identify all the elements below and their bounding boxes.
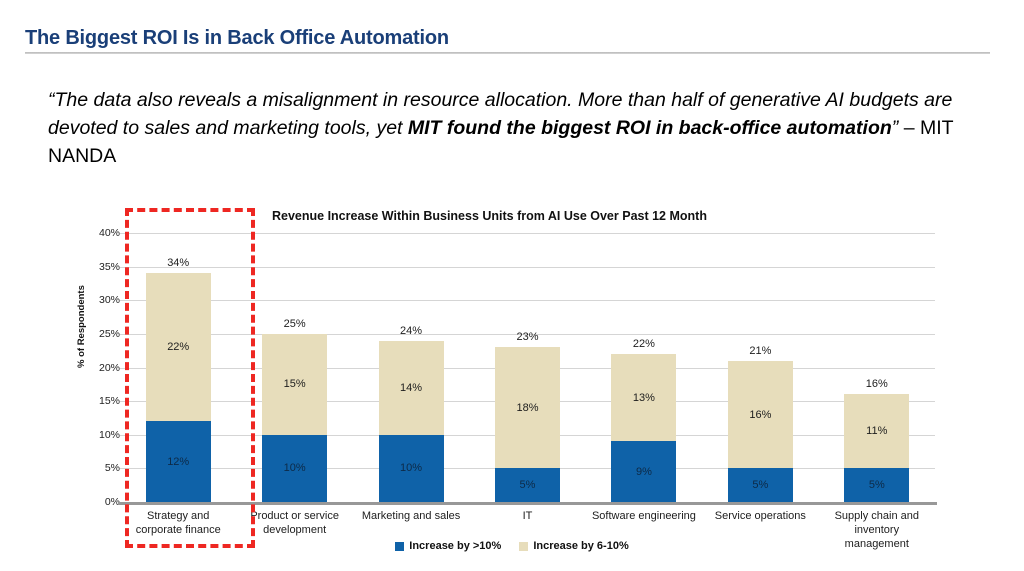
bar-total-label: 34%: [146, 257, 211, 269]
bar-segment-value-label: 22%: [167, 341, 189, 353]
bar-total-label: 25%: [262, 318, 327, 330]
page-title: The Biggest ROI Is in Back Office Automa…: [25, 27, 449, 50]
y-tick-label: 5%: [105, 462, 120, 474]
x-category-label: Strategy andcorporate finance: [124, 509, 233, 537]
quote-paragraph: “The data also reveals a misalignment in…: [48, 86, 968, 170]
bar-segment-increase-6-to-10[interactable]: 15%: [262, 334, 327, 435]
bar-segment-value-label: 18%: [516, 402, 538, 414]
category-label-line: Marketing and sales: [362, 510, 460, 522]
y-tick-label: 30%: [99, 294, 120, 306]
bar-total-label: 23%: [495, 331, 560, 343]
category-label-line: Supply chain and: [835, 510, 919, 522]
legend-label: Increase by 6-10%: [533, 540, 628, 552]
y-tick-label: 20%: [99, 362, 120, 374]
bar-segment-value-label: 16%: [749, 409, 771, 421]
bar-segment-value-label: 13%: [633, 392, 655, 404]
category-label-line: Service operations: [715, 510, 806, 522]
chart-legend: Increase by >10%Increase by 6-10%: [0, 540, 1024, 552]
bar-segment-value-label: 5%: [752, 479, 768, 491]
bar-segment-increase-6-to-10[interactable]: 13%: [611, 354, 676, 441]
y-tick-label: 35%: [99, 261, 120, 273]
bar-segment-increase-over-10[interactable]: 10%: [262, 435, 327, 502]
bar-total-label: 21%: [728, 345, 793, 357]
bar-segment-increase-6-to-10[interactable]: 16%: [728, 361, 793, 469]
x-category-label: Software engineering: [589, 509, 698, 523]
bar-segment-value-label: 11%: [866, 425, 887, 437]
category-label-line: development: [263, 524, 326, 536]
category-label-line: corporate finance: [136, 524, 221, 536]
bar-column[interactable]: 10%15%25%Product or servicedevelopment: [262, 233, 327, 502]
bar-column[interactable]: 5%18%23%IT: [495, 233, 560, 502]
bar-segment-increase-over-10[interactable]: 12%: [146, 421, 211, 502]
legend-item[interactable]: Increase by >10%: [395, 540, 501, 552]
bar-segment-value-label: 12%: [167, 456, 189, 468]
bar-column[interactable]: 9%13%22%Software engineering: [611, 233, 676, 502]
chart-title: Revenue Increase Within Business Units f…: [272, 209, 707, 223]
bar-total-label: 22%: [611, 338, 676, 350]
y-axis-title: % of Respondents: [76, 285, 87, 368]
bar-segment-increase-over-10[interactable]: 5%: [495, 468, 560, 502]
x-category-label: Marketing and sales: [357, 509, 466, 523]
bar-segment-increase-6-to-10[interactable]: 18%: [495, 347, 560, 468]
category-label-line: Software engineering: [592, 510, 696, 522]
bar-segment-value-label: 5%: [520, 479, 536, 491]
bar-segment-increase-over-10[interactable]: 5%: [844, 468, 909, 502]
bar-segment-increase-over-10[interactable]: 5%: [728, 468, 793, 502]
bar-segment-increase-over-10[interactable]: 10%: [379, 435, 444, 502]
y-tick-label: 25%: [99, 328, 120, 340]
title-divider: [25, 52, 990, 54]
bar-segment-value-label: 14%: [400, 382, 422, 394]
x-axis-line: [118, 502, 937, 505]
x-category-label: Product or servicedevelopment: [240, 509, 349, 537]
plot-area: 12%22%34%Strategy andcorporate finance10…: [120, 233, 935, 502]
bar-segment-increase-6-to-10[interactable]: 11%: [844, 394, 909, 468]
bar-segment-value-label: 15%: [284, 378, 306, 390]
bar-segment-increase-6-to-10[interactable]: 14%: [379, 341, 444, 435]
quote-emphasis: MIT found the biggest ROI in back-office…: [408, 117, 892, 139]
bar-column[interactable]: 5%16%21%Service operations: [728, 233, 793, 502]
y-tick-label: 15%: [99, 395, 120, 407]
y-tick-label: 10%: [99, 429, 120, 441]
bar-segment-increase-6-to-10[interactable]: 22%: [146, 273, 211, 421]
bar-total-label: 24%: [379, 325, 444, 337]
bar-segment-value-label: 9%: [636, 466, 652, 478]
bar-column[interactable]: 10%14%24%Marketing and sales: [379, 233, 444, 502]
y-tick-label: 40%: [99, 227, 120, 239]
bar-total-label: 16%: [844, 378, 909, 390]
category-label-line: Product or service: [250, 510, 339, 522]
bar-segment-value-label: 10%: [400, 462, 422, 474]
legend-swatch-icon: [395, 542, 404, 551]
y-axis-tick-labels: 0%5%10%15%20%25%30%35%40%: [92, 233, 120, 502]
x-category-label: IT: [473, 509, 582, 523]
bar-column[interactable]: 5%11%16%Supply chain andinventorymanagem…: [844, 233, 909, 502]
legend-swatch-icon: [519, 542, 528, 551]
bar-segment-value-label: 10%: [284, 462, 306, 474]
x-category-label: Service operations: [706, 509, 815, 523]
bar-segment-increase-over-10[interactable]: 9%: [611, 441, 676, 502]
legend-item[interactable]: Increase by 6-10%: [519, 540, 628, 552]
bar-column[interactable]: 12%22%34%Strategy andcorporate finance: [146, 233, 211, 502]
legend-label: Increase by >10%: [409, 540, 501, 552]
bar-segment-value-label: 5%: [869, 479, 885, 491]
category-label-line: inventory: [854, 524, 899, 536]
category-label-line: IT: [523, 510, 533, 522]
category-label-line: Strategy and: [147, 510, 209, 522]
chart-container: Revenue Increase Within Business Units f…: [0, 196, 1024, 571]
